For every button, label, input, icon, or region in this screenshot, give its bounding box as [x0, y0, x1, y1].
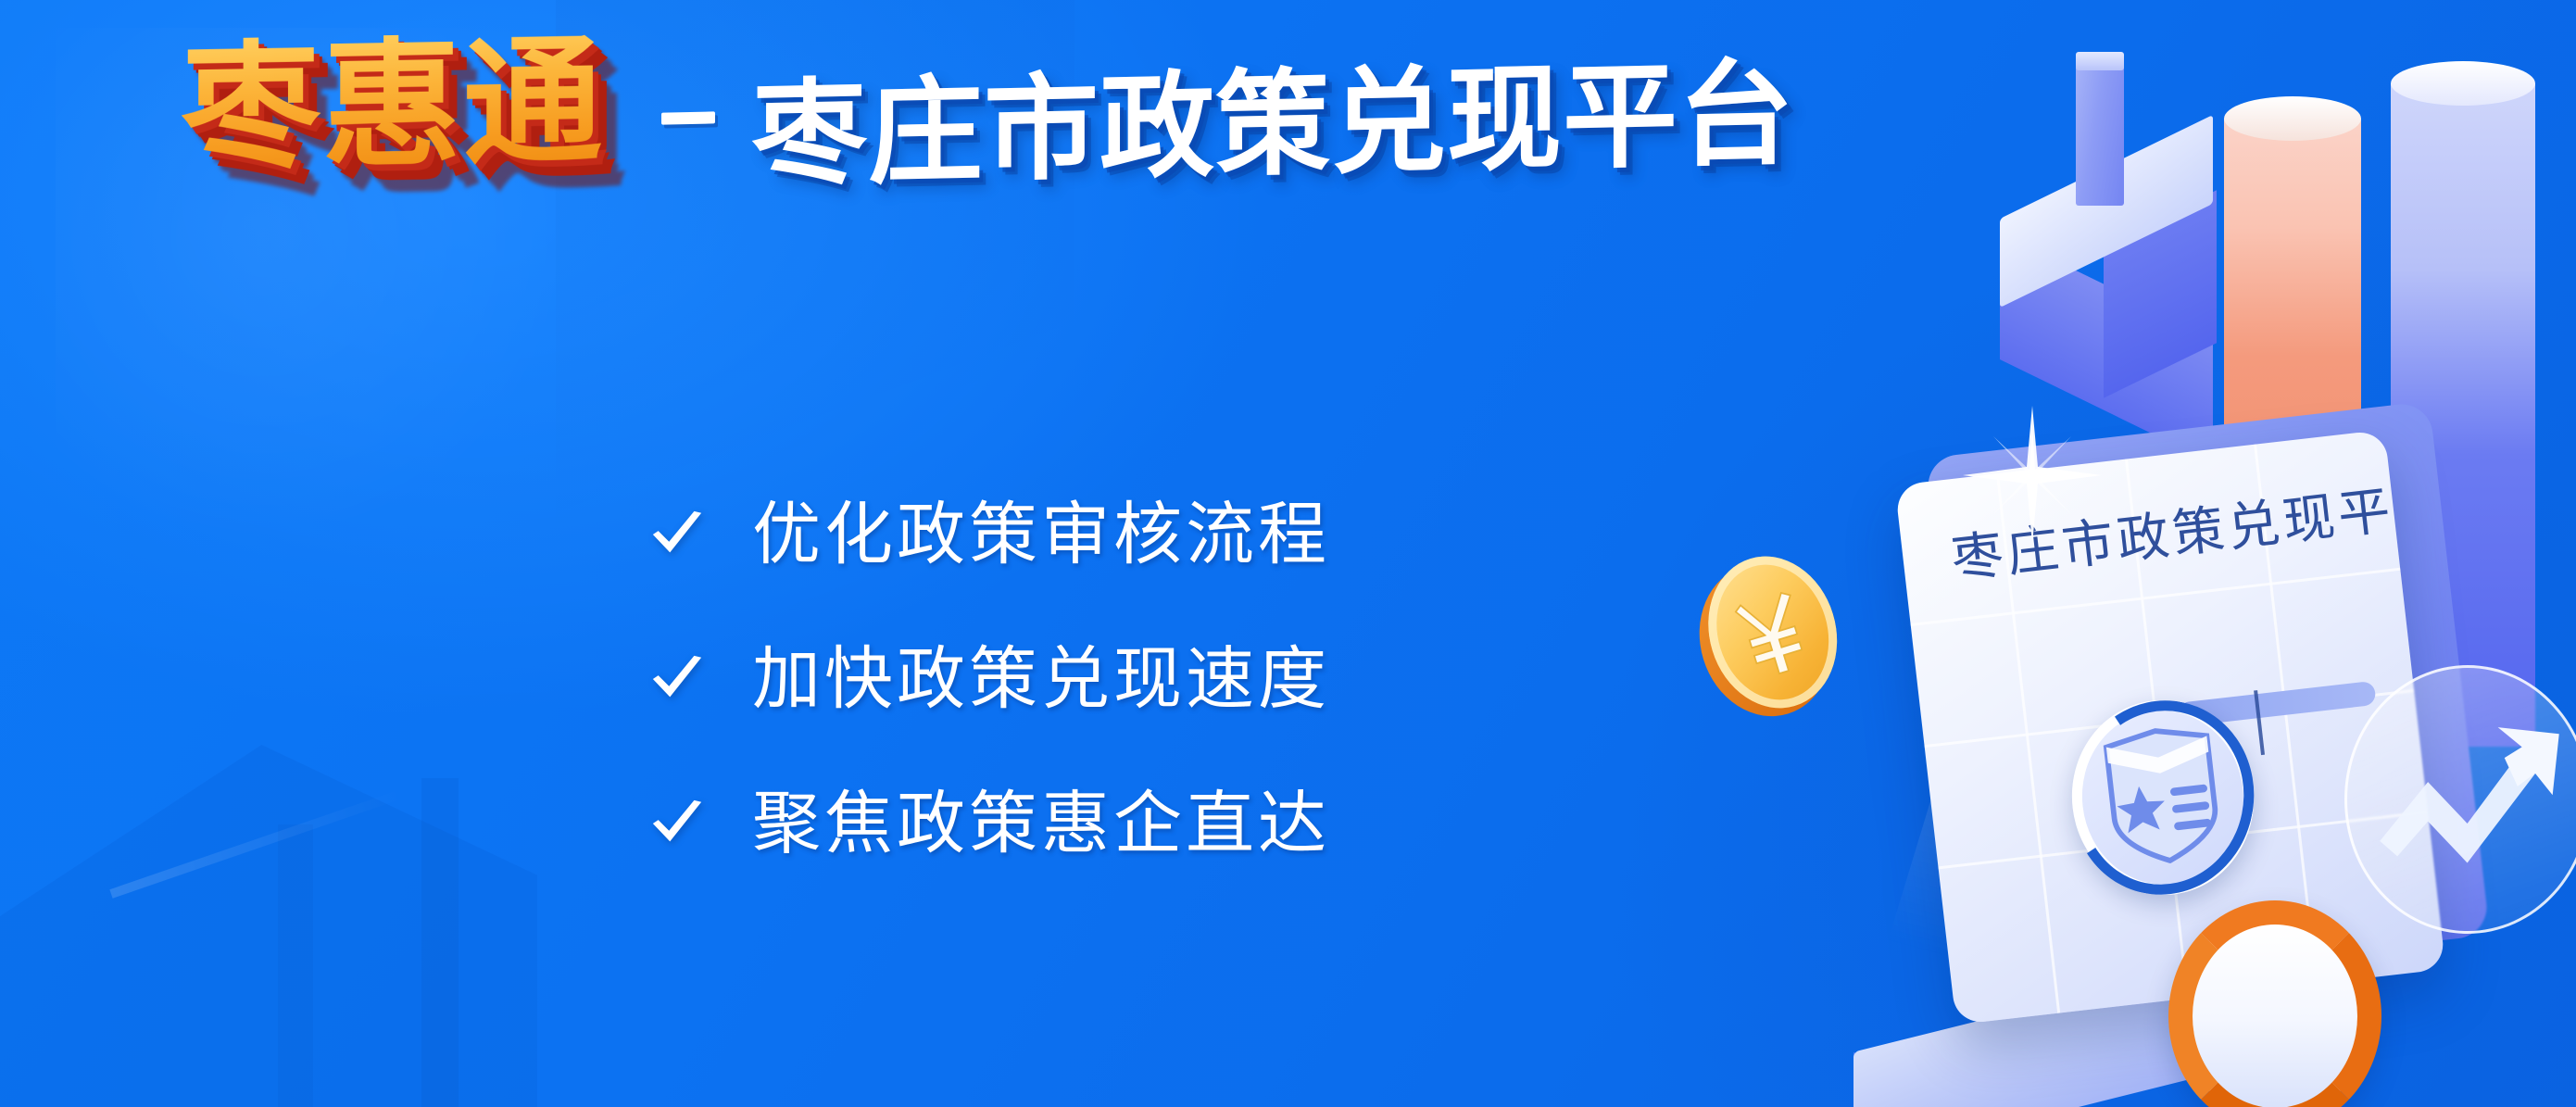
background-light-streak: [109, 790, 401, 899]
cylinder-body: [2224, 119, 2361, 615]
background-pillar-right: [421, 778, 459, 1107]
pedestal-front: [1853, 1052, 2252, 1107]
cylinder-cap: [2391, 61, 2535, 106]
background-building-silhouette: [0, 704, 537, 1107]
card-tick-mark: [2254, 690, 2265, 755]
pedestal-top: [1853, 952, 2252, 1107]
light-beam: [1863, 648, 2122, 1075]
feature-item: 加快政策兑现速度: [648, 645, 1330, 713]
cylinder-cap: [2224, 96, 2361, 141]
platform-logo-text: 枣惠通: [182, 31, 604, 178]
check-icon: [648, 795, 706, 852]
feature-item: 优化政策审核流程: [648, 500, 1330, 569]
bar-cylinder-blue: [2391, 61, 2535, 747]
feature-label: 加快政策兑现速度: [752, 645, 1330, 713]
banner-illustration: 枣庄市政策兑现平台: [1705, 0, 2576, 1107]
growth-indicator-disc: [2344, 665, 2576, 934]
chimney-bar-cap: [2076, 52, 2124, 70]
bar-cylinder-orange: [2224, 96, 2361, 615]
chimney-bar: [2076, 57, 2124, 206]
background-pillar-left: [278, 824, 313, 1107]
feature-item: 聚焦政策惠企直达: [648, 789, 1330, 858]
feature-label: 聚焦政策惠企直达: [752, 789, 1330, 858]
coin-face: [1690, 540, 1855, 724]
cylinder-body: [2391, 83, 2535, 747]
yuan-symbol-icon: [1719, 572, 1827, 691]
orange-ring-accent: [2168, 900, 2381, 1107]
certification-badge: [2062, 691, 2265, 905]
badge-accent-ring: [2055, 685, 2271, 912]
card-grid-lines: [1895, 430, 2446, 1025]
check-icon: [648, 650, 706, 708]
badge-outer-ring: [2062, 691, 2265, 905]
coin-edge: [1681, 547, 1850, 733]
feature-label: 优化政策审核流程: [752, 500, 1330, 569]
shield-icon: [2088, 715, 2237, 875]
check-icon: [648, 506, 706, 563]
gold-coin-icon: [1673, 536, 1858, 737]
card-progress-bar: [2177, 681, 2377, 727]
banner-headline: 枣惠通 枣庄市政策兑现平台: [182, 35, 1794, 174]
platform-card-shadow: [1925, 401, 2490, 992]
isometric-platform-front: [2000, 233, 2213, 463]
title-separator-dash: [661, 111, 715, 124]
sparkle-icon: [1963, 406, 2102, 545]
isometric-platform-side: [2104, 190, 2217, 398]
platform-subtitle: 枣庄市政策兑现平台: [752, 57, 1794, 194]
isometric-platform-top: [2000, 115, 2213, 308]
policy-platform-banner: 枣惠通 枣庄市政策兑现平台 优化政策审核流程 加快政策兑现速度 聚焦政策惠企直达: [0, 0, 2576, 1107]
card-title: 枣庄市政策兑现平台: [1949, 477, 2446, 588]
feature-list: 优化政策审核流程 加快政策兑现速度 聚焦政策惠企直达: [648, 500, 1330, 858]
trending-up-arrow-icon: [2360, 690, 2576, 909]
platform-card: 枣庄市政策兑现平台: [1895, 430, 2446, 1025]
